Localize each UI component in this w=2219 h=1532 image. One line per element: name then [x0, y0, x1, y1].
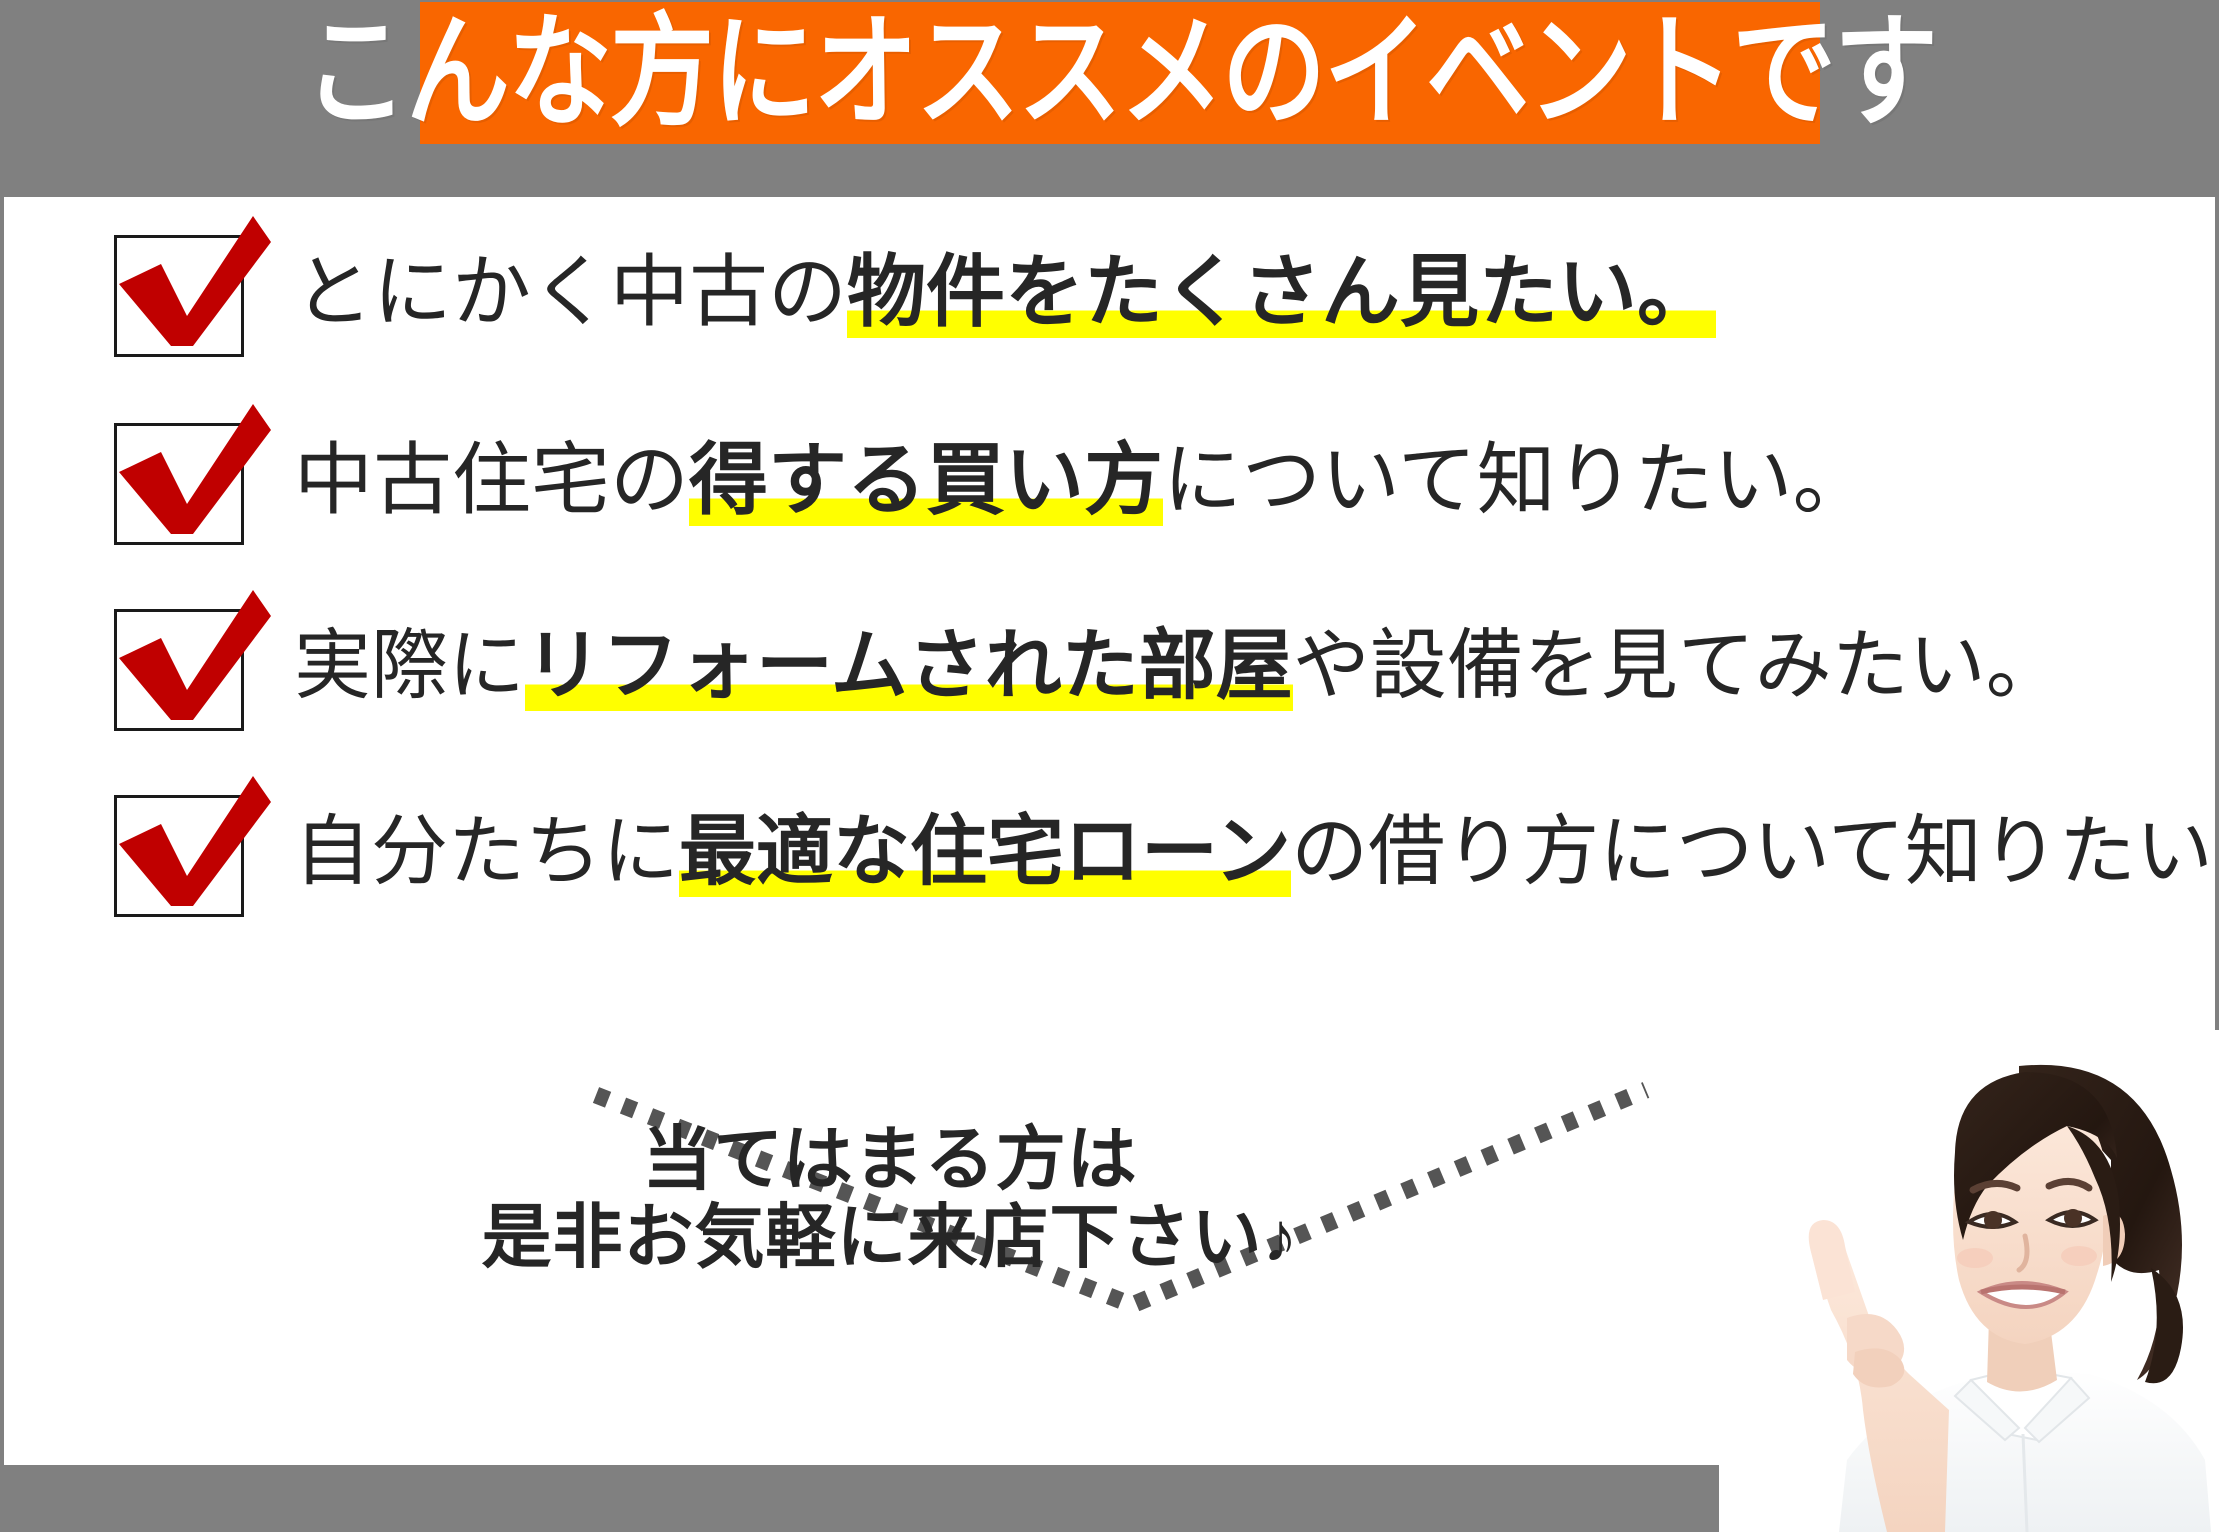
check-mark-icon [103, 212, 271, 362]
cta-text: 当てはまる方は 是非お気軽に来店下さい♪ [0, 1120, 1780, 1277]
checklist-item-plain: とにかく中古の [294, 247, 847, 336]
page-title: こんな方にオススメのイベントです [304, 12, 1936, 135]
checklist-item-text-2: 中古住宅の得する買い方について知りたい。 [294, 439, 1872, 522]
cta-line-2: 是非お気軽に来店下さい♪ [0, 1198, 1780, 1276]
header-band: こんな方にオススメのイベントです [0, 0, 2219, 197]
checkbox-checked-1[interactable] [114, 235, 244, 357]
checklist-item-tail: や設備を見てみたい。 [1293, 623, 2063, 709]
checklist-item-plain: 中古住宅の [294, 435, 689, 524]
cta-line-1: 当てはまる方は [0, 1120, 1780, 1198]
checkbox-checked-3[interactable] [114, 609, 244, 731]
checklist-item-tail: について知りたい。 [1163, 435, 1872, 524]
checklist-item-plain: 実際に [294, 623, 525, 709]
checklist-item: 実際にリフォームされた部屋や設備を見てみたい。 [114, 609, 2063, 731]
check-mark-icon [103, 586, 271, 736]
check-mark-icon [103, 772, 271, 922]
check-mark-icon [103, 400, 271, 550]
checklist-item-text-1: とにかく中古の物件をたくさん見たい。 [294, 251, 1716, 334]
checkbox-checked-4[interactable] [114, 795, 244, 917]
woman-illustration [1719, 1030, 2219, 1532]
checklist-item: 自分たちに最適な住宅ローンの借り方について知りたい。 [114, 795, 2215, 917]
checklist-item-highlight: リフォームされた部屋 [525, 623, 1293, 711]
checkbox-checked-2[interactable] [114, 423, 244, 545]
checklist-item-text-3: 実際にリフォームされた部屋や設備を見てみたい。 [294, 626, 2063, 707]
checklist-item: とにかく中古の物件をたくさん見たい。 [114, 235, 1716, 357]
checklist-item-highlight: 最適な住宅ローン [679, 809, 1291, 897]
poster-root: こんな方にオススメのイベントです とにかく中古の物件をたくさん見たい。 [0, 0, 2219, 1532]
woman-pointing-photo [1719, 1030, 2219, 1532]
checklist-item-highlight: 得する買い方 [689, 435, 1163, 526]
checklist-item: 中古住宅の得する買い方について知りたい。 [114, 423, 1872, 545]
header-title-box: こんな方にオススメのイベントです [420, 2, 1820, 144]
checklist-item-plain: 自分たちに [294, 809, 679, 895]
checklist-item-highlight: 物件をたくさん見たい。 [847, 247, 1716, 338]
checklist-item-text-4: 自分たちに最適な住宅ローンの借り方について知りたい。 [294, 812, 2215, 893]
checklist-item-tail: の借り方について知りたい。 [1291, 809, 2215, 895]
